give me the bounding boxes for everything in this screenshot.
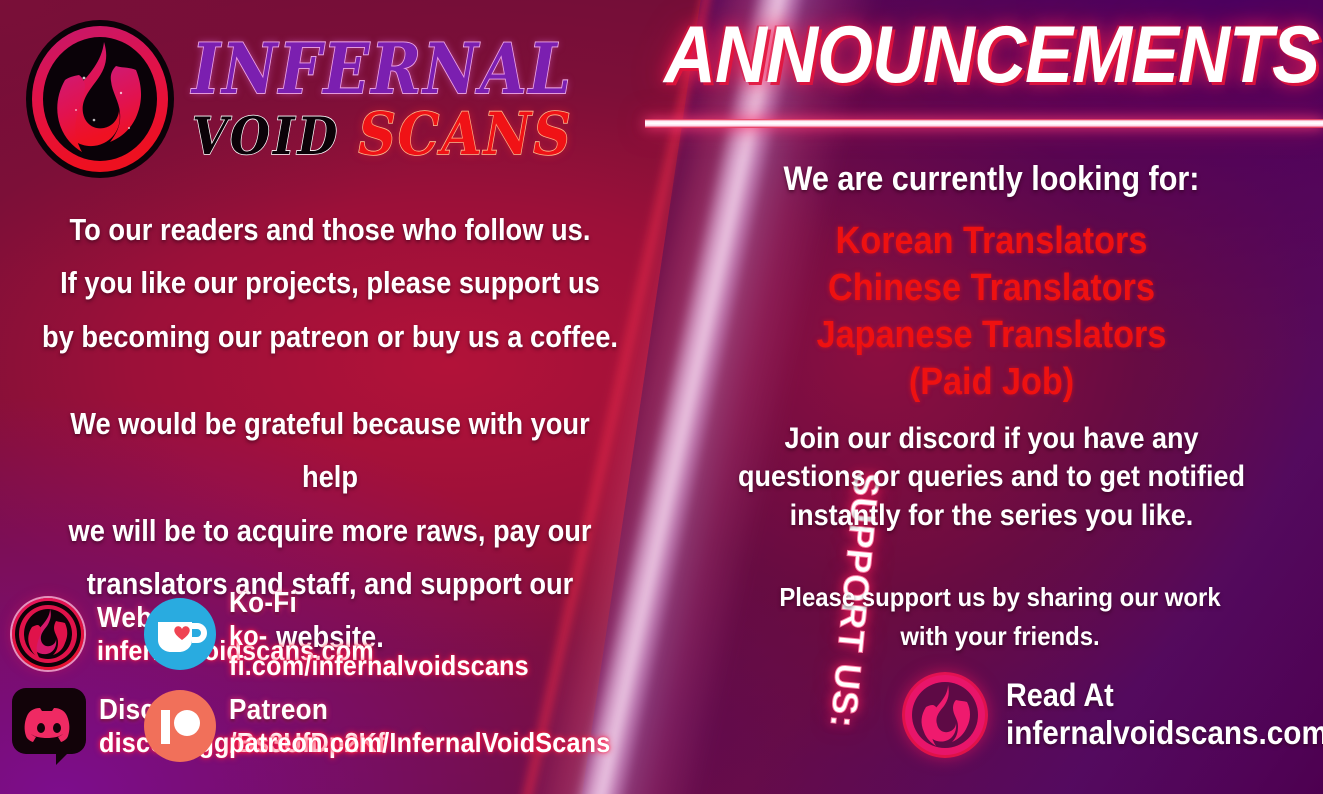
- brand-name-scans: SCANS: [358, 108, 572, 162]
- link-kofi-title: Ko-Fi: [229, 588, 529, 618]
- discord-invite-note: Join our discord if you have anyquestion…: [693, 420, 1290, 535]
- header-divider: [645, 119, 1323, 128]
- looking-for-label: We are currently looking for:: [693, 160, 1290, 199]
- link-kofi[interactable]: Ko-Fi ko-fi.com/infernalvoidscans: [144, 588, 559, 680]
- share-note: Please support us by sharing our workwit…: [761, 578, 1239, 656]
- open-roles-list: Korean TranslatorsChinese TranslatorsJap…: [693, 218, 1290, 406]
- infernal-flame-logo-icon: [24, 18, 176, 180]
- link-patreon-url: patreon.com/InfernalVoidScans: [229, 728, 610, 757]
- kofi-cup-icon: [144, 598, 216, 670]
- left-column: INFERNAL VOID SCANS To our readers and t…: [0, 0, 672, 794]
- announcement-poster: INFERNAL VOID SCANS To our readers and t…: [0, 0, 1323, 794]
- discord-icon: [12, 688, 86, 764]
- infernal-flame-logo-icon-read: [902, 672, 988, 758]
- left-paragraph-1: To our readers and those who follow us.I…: [40, 203, 621, 363]
- read-at-block[interactable]: Read At infernalvoidscans.com: [902, 672, 1323, 758]
- link-kofi-url: ko-fi.com/infernalvoidscans: [229, 621, 529, 679]
- link-patreon-title: Patreon: [229, 695, 610, 725]
- read-at-title: Read At: [1006, 679, 1323, 713]
- link-website[interactable]: Website infernalvoidscans.com: [12, 588, 144, 680]
- patreon-icon: [144, 690, 216, 762]
- link-discord[interactable]: Discord discord.gg/Bs3UfDp2Kf: [12, 680, 144, 772]
- brand-wordmark: INFERNAL VOID SCANS: [192, 39, 573, 158]
- brand-name-void: VOID: [192, 112, 340, 159]
- brand-header: INFERNAL VOID SCANS: [24, 18, 573, 180]
- link-patreon[interactable]: Patreon patreon.com/InfernalVoidScans: [144, 680, 559, 772]
- brand-name-line1: INFERNAL: [192, 39, 573, 103]
- announcements-heading: ANNOUNCEMENTS: [660, 9, 1323, 101]
- read-at-url: infernalvoidscans.com: [1006, 716, 1323, 751]
- infernal-flame-logo-icon-small: [12, 598, 84, 670]
